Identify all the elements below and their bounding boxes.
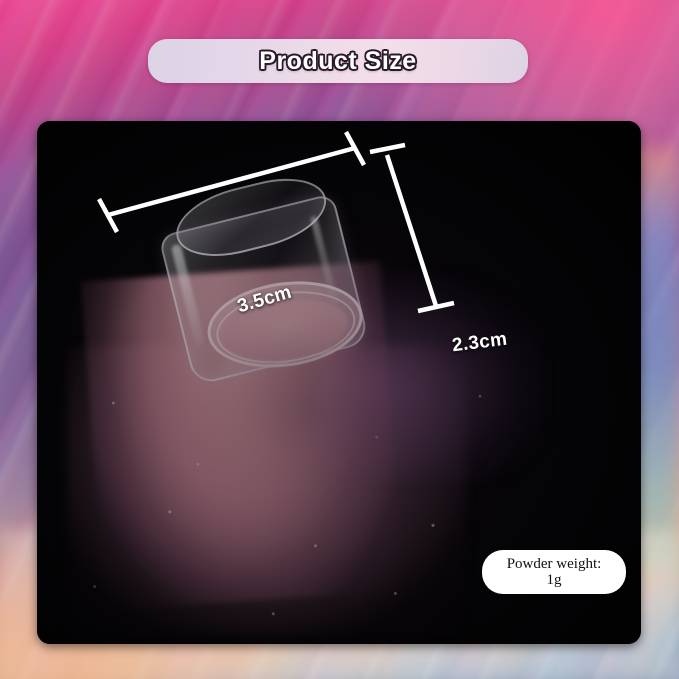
powder-weight-label: Powder weight: [507,556,602,572]
product-size-infographic: Product Size [0,0,679,679]
title-banner: Product Size [148,39,528,83]
powder-weight-badge: Powder weight: 1g [482,550,626,594]
powder-weight-value: 1g [547,572,562,588]
page-title: Product Size [259,47,416,76]
